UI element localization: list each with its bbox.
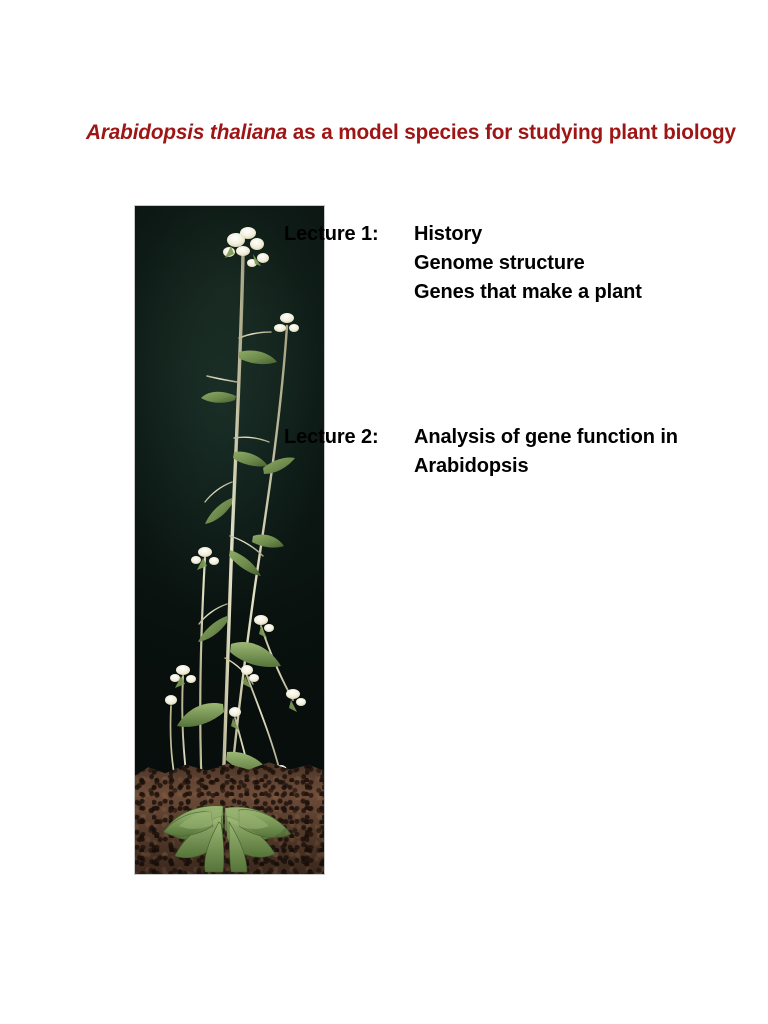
lecture-2-topic-1: Analysis of gene function in [414,423,704,452]
lecture-1-label: Lecture 1: [284,220,414,249]
lecture-2-label: Lecture 2: [284,423,414,452]
species-name: Arabidopsis thaliana [86,120,287,144]
lecture-1-topic-2: Genome structure [414,249,704,278]
lecture-row: Lecture 2: Analysis of gene function in … [284,423,704,481]
title-remainder: as a model species for studying plant bi… [287,120,736,144]
lecture-1-block: Lecture 1: History Genome structure Gene… [284,220,704,307]
page-title: Arabidopsis thaliana as a model species … [86,119,675,145]
lecture-1-topic-3: Genes that make a plant [414,278,704,307]
lecture-2-topic-2: Arabidopsis [414,452,704,481]
lecture-1-topics: History Genome structure Genes that make… [414,220,704,307]
lecture-row: Lecture 1: History Genome structure Gene… [284,220,704,307]
slide-canvas: Arabidopsis thaliana as a model species … [0,0,768,1024]
lecture-2-block: Lecture 2: Analysis of gene function in … [284,423,704,481]
lecture-2-topics: Analysis of gene function in Arabidopsis [414,423,704,481]
lecture-1-topic-1: History [414,220,704,249]
